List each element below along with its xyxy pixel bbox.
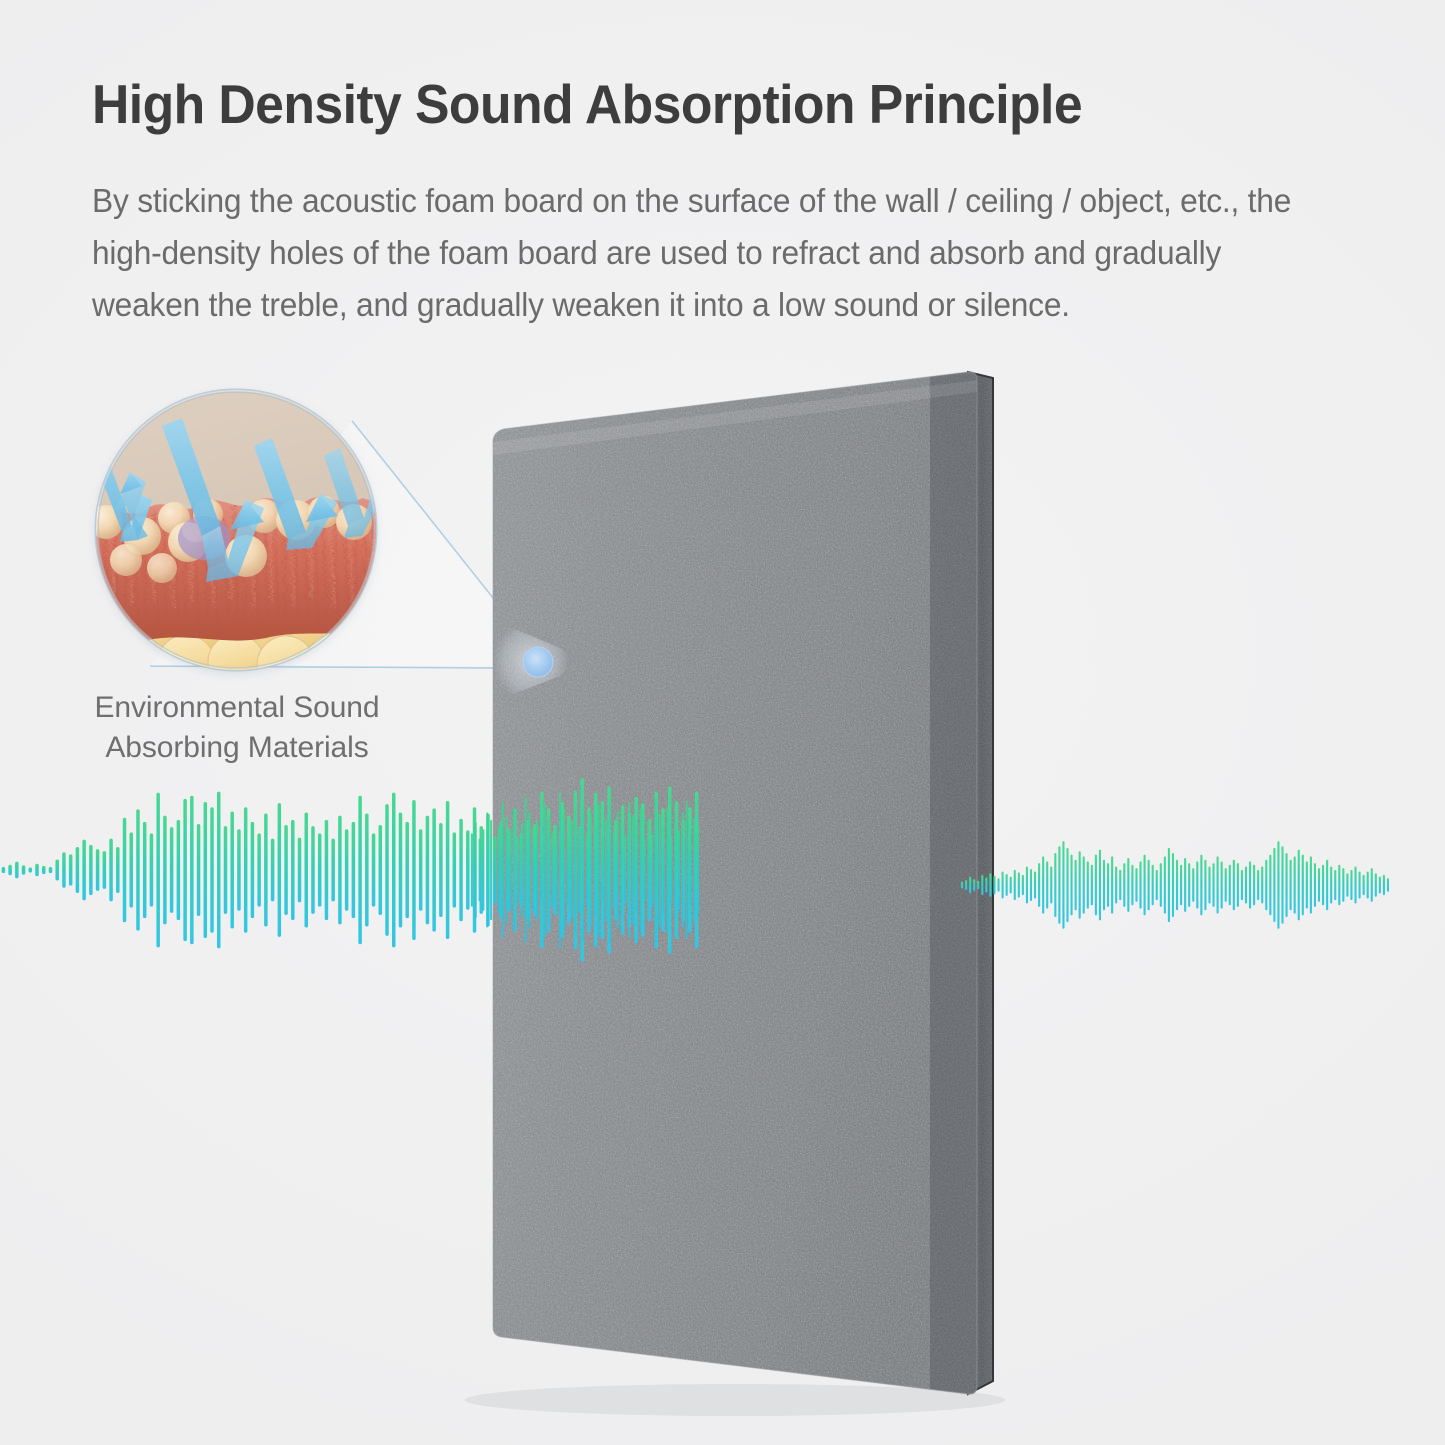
magnifier-caption-line-2: Absorbing Materials (62, 728, 412, 768)
magnified-material-inset (96, 390, 376, 670)
magnifier-caption: Environmental Sound Absorbing Materials (62, 688, 412, 768)
waveform-over-panel (470, 770, 700, 970)
waveform-outgoing (960, 830, 1390, 940)
description-paragraph: By sticking the acoustic foam board on t… (92, 175, 1304, 331)
infographic-canvas: High Density Sound Absorption Principle … (0, 0, 1445, 1445)
page-title: High Density Sound Absorption Principle (92, 72, 1286, 136)
magnifier-caption-line-1: Environmental Sound (62, 688, 412, 728)
panel-hotspot (493, 620, 569, 702)
magnified-material-svg (96, 390, 376, 670)
